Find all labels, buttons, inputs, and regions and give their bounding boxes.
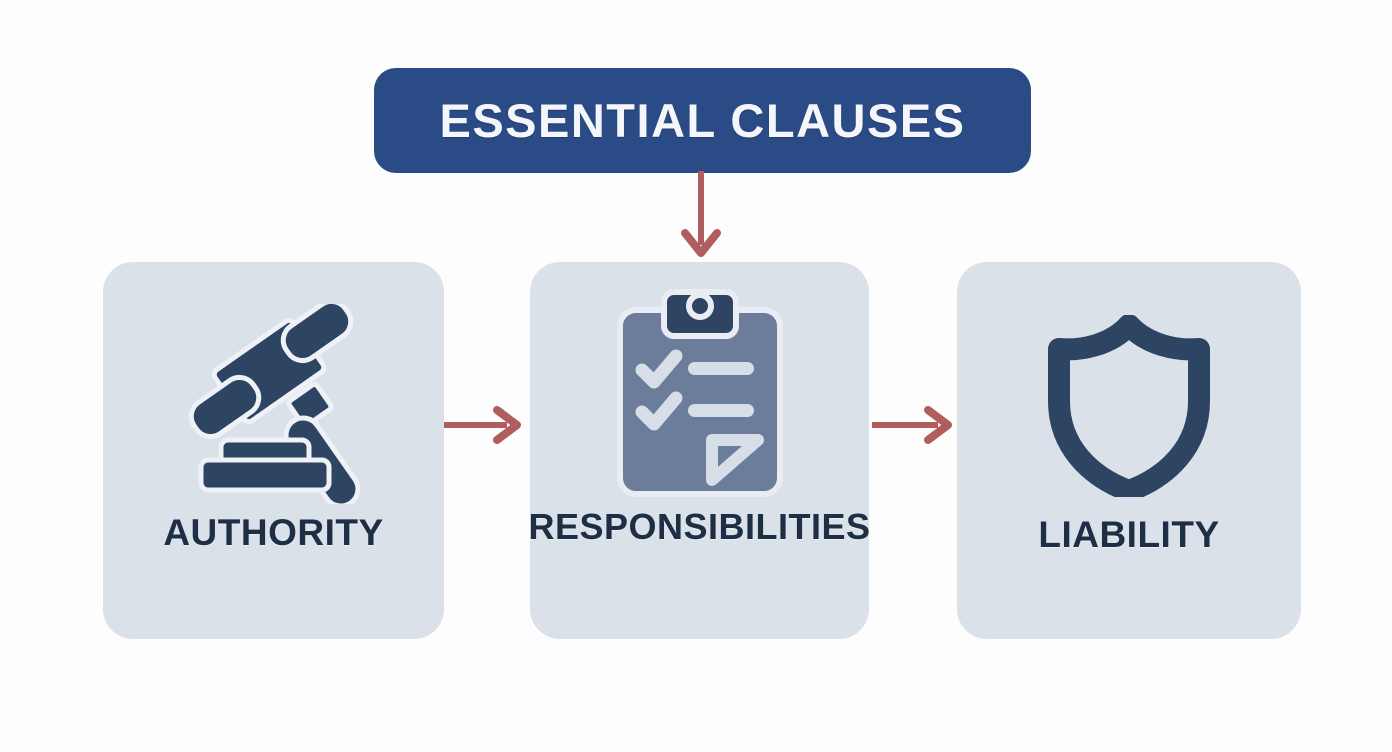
diagram-canvas: ESSENTIAL CLAUSES bbox=[0, 0, 1392, 752]
gavel-icon bbox=[169, 304, 379, 504]
card-authority[interactable]: AUTHORITY bbox=[103, 262, 444, 639]
banner-title: ESSENTIAL CLAUSES bbox=[439, 93, 965, 148]
card-liability[interactable]: LIABILITY bbox=[957, 262, 1301, 639]
card-icon-slot bbox=[169, 304, 379, 504]
title-banner: ESSENTIAL CLAUSES bbox=[374, 68, 1031, 173]
card-label-responsibilities: RESPONSIBILITIES bbox=[528, 506, 870, 548]
arrow-down-icon bbox=[676, 171, 726, 257]
arrow-right-icon bbox=[441, 402, 523, 448]
card-label-liability: LIABILITY bbox=[1038, 514, 1219, 556]
arrow-right-icon bbox=[872, 402, 954, 448]
card-label-authority: AUTHORITY bbox=[163, 512, 383, 554]
card-responsibilities[interactable]: RESPONSIBILITIES bbox=[530, 262, 869, 639]
shield-icon bbox=[1045, 315, 1213, 497]
card-icon-slot bbox=[1045, 306, 1213, 506]
clipboard-checklist-icon bbox=[612, 284, 788, 500]
card-icon-slot bbox=[612, 292, 788, 492]
